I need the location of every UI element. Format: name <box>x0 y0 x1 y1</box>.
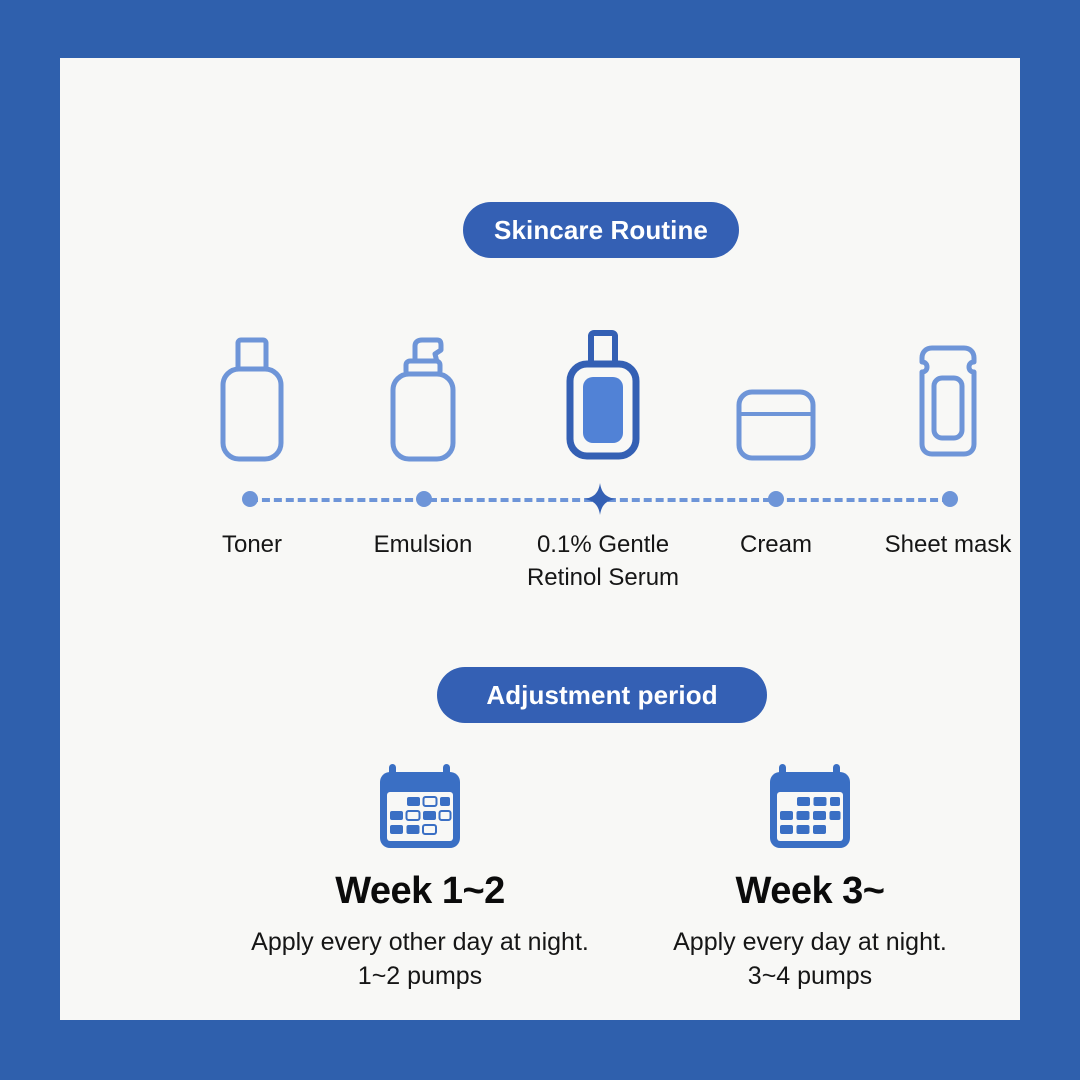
adjustment-title: Week 3~ <box>600 870 1020 913</box>
sheet-mask-pouch-icon <box>858 316 1038 464</box>
section-badge-skincare-routine: Skincare Routine <box>463 202 739 258</box>
calendar-alternate-days-icon <box>210 758 630 854</box>
adjustment-period-columns: Week 1~2 Apply every other day at night.… <box>120 758 1080 1008</box>
routine-step-cream[interactable]: Cream <box>686 316 866 616</box>
routine-step-label: 0.1% Gentle Retinol Serum <box>503 528 703 594</box>
routine-step-label: Toner <box>152 528 352 561</box>
sparkle-icon <box>584 483 616 515</box>
page-background: Skincare Routine Toner <box>0 0 1080 1080</box>
emulsion-pump-bottle-icon <box>333 316 513 464</box>
adjustment-column-week-3-plus[interactable]: Week 3~ Apply every day at night. 3~4 pu… <box>600 758 1020 993</box>
calendar-every-day-icon <box>600 758 1020 854</box>
adjustment-desc-line1: Apply every day at night. <box>673 928 947 956</box>
toner-bottle-icon <box>162 316 342 464</box>
step-marker-dot <box>416 491 432 507</box>
routine-step-toner[interactable]: Toner <box>162 316 342 616</box>
routine-step-label: Sheet mask <box>848 528 1048 561</box>
adjustment-desc-line2: 1~2 pumps <box>210 959 630 993</box>
adjustment-description: Apply every day at night. 3~4 pumps <box>600 925 1020 993</box>
step-marker-dot <box>942 491 958 507</box>
adjustment-desc-line2: 3~4 pumps <box>600 959 1020 993</box>
routine-step-sheet-mask[interactable]: Sheet mask <box>858 316 1038 616</box>
section-badge-adjustment-period: Adjustment period <box>437 667 767 723</box>
step-marker-dot <box>768 491 784 507</box>
content-card: Skincare Routine Toner <box>60 58 1020 1020</box>
routine-connector-track <box>250 497 950 501</box>
routine-steps: Toner Emulsion <box>120 316 1080 616</box>
routine-step-label-line1: 0.1% Gentle <box>537 531 669 558</box>
routine-step-retinol-serum[interactable]: 0.1% Gentle Retinol Serum <box>513 316 693 616</box>
routine-step-emulsion[interactable]: Emulsion <box>333 316 513 616</box>
routine-step-label-line2: Retinol Serum <box>527 564 679 591</box>
adjustment-desc-line1: Apply every other day at night. <box>251 928 589 956</box>
serum-bottle-icon <box>513 316 693 464</box>
step-marker-dot <box>242 491 258 507</box>
routine-step-label: Cream <box>676 528 876 561</box>
adjustment-description: Apply every other day at night. 1~2 pump… <box>210 925 630 993</box>
routine-step-label: Emulsion <box>323 528 523 561</box>
cream-jar-icon <box>686 316 866 464</box>
adjustment-column-week-1-2[interactable]: Week 1~2 Apply every other day at night.… <box>210 758 630 993</box>
adjustment-title: Week 1~2 <box>210 870 630 913</box>
